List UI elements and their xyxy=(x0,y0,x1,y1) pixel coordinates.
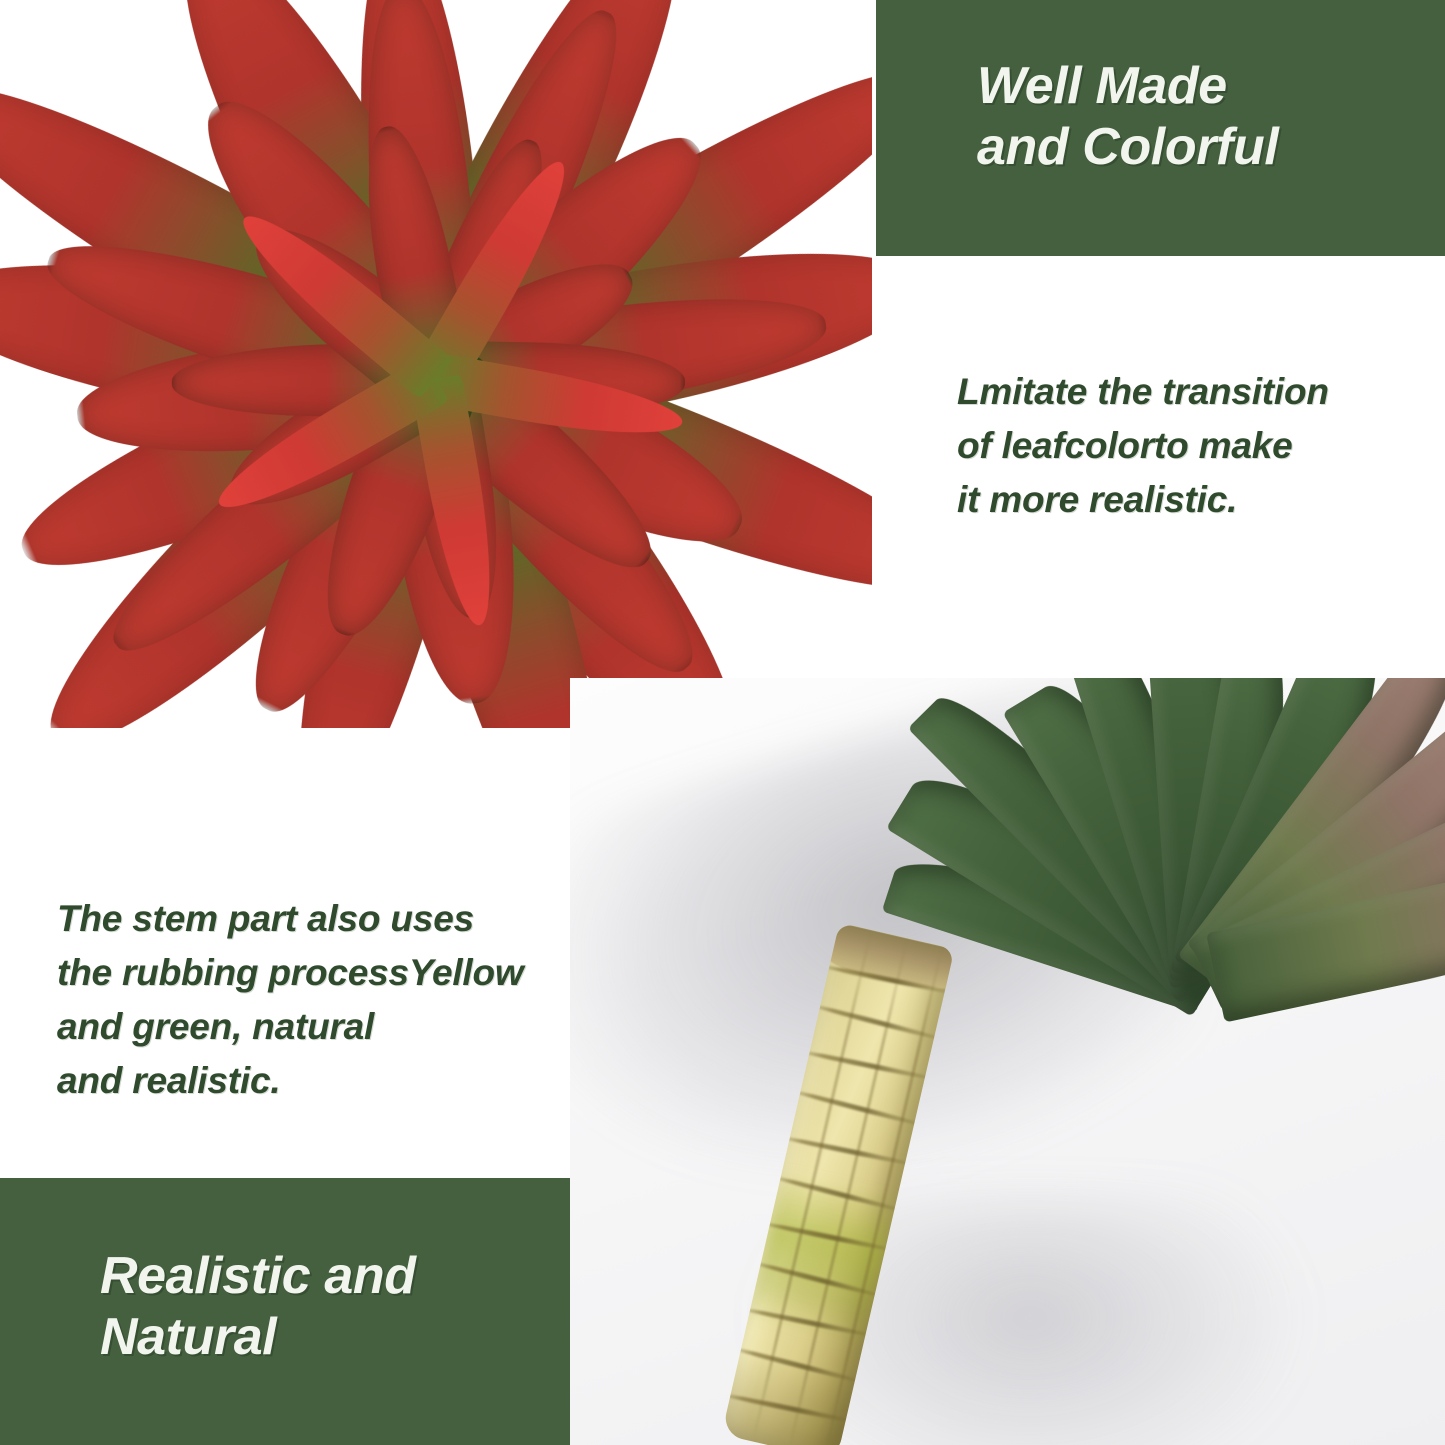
heading-well-made-and-colorful: Well Made and Colorful xyxy=(977,56,1278,178)
agave-rosette-graphic xyxy=(0,0,872,728)
photo-bottom-right-stem xyxy=(570,678,1445,1445)
caption-leaf-color-transition: Lmitate the transition of leafcolorto ma… xyxy=(957,365,1427,527)
leaf-fan-graphic xyxy=(870,678,1445,1118)
heading-realistic-and-natural: Realistic and Natural xyxy=(100,1246,416,1368)
infographic-canvas: Well Made and Colorful Lmitate the trans… xyxy=(0,0,1445,1445)
photo-top-left-rosette xyxy=(0,0,872,728)
caption-stem-rubbing-process: The stem part also uses the rubbing proc… xyxy=(57,892,577,1108)
